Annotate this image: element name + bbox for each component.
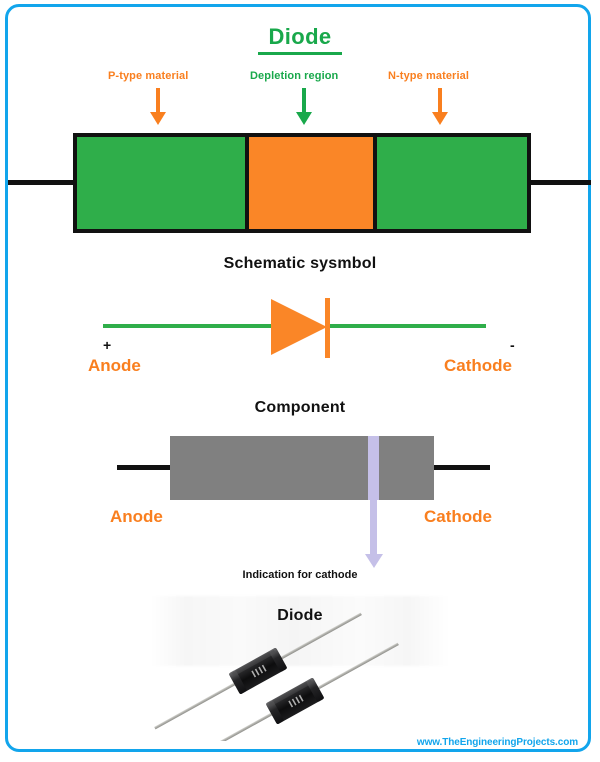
- component-cathode-label: Cathode: [424, 507, 492, 527]
- pn-junction-lead-right: [529, 180, 591, 185]
- page-title: Diode: [0, 24, 600, 50]
- pn-segment-n-region: [377, 137, 527, 229]
- polarity-minus-sign: -: [510, 337, 515, 353]
- arrow-head: [296, 112, 312, 125]
- heading-component: Component: [0, 399, 600, 417]
- cathode-indicator-arrow-shaft: [370, 500, 377, 558]
- pn-junction-lead-left: [8, 180, 74, 185]
- arrow-head: [150, 112, 166, 125]
- diode-triangle-icon: [271, 299, 327, 355]
- diode-photo-svg: [150, 596, 450, 741]
- caption-indication-for-cathode: Indication for cathode: [0, 569, 600, 581]
- heading-schematic-symbol: Schematic sysmbol: [0, 255, 600, 273]
- label-n-type-material: N-type material: [388, 70, 469, 82]
- schematic-cathode-label: Cathode: [444, 356, 512, 376]
- schematic-anode-label: Anode: [88, 356, 141, 376]
- schematic-wire-right: [326, 324, 486, 328]
- label-p-type-material: P-type material: [108, 70, 188, 82]
- arrow-head: [432, 112, 448, 125]
- pn-segment-p-region: [77, 137, 245, 229]
- arrow-down-icon-p-type: [148, 88, 168, 128]
- arrow-shaft: [302, 88, 306, 114]
- component-cathode-band: [368, 436, 379, 500]
- component-anode-label: Anode: [110, 507, 163, 527]
- arrow-down-icon-n-type: [430, 88, 450, 128]
- arrow-down-icon-depletion: [294, 88, 314, 128]
- schematic-wire-left: [103, 324, 278, 328]
- component-lead-right: [433, 465, 490, 470]
- diode-infographic: Diode P-type material Depletion region N…: [0, 0, 600, 762]
- diode-cathode-bar-icon: [325, 298, 330, 358]
- page-title-underline: [258, 52, 342, 55]
- diode-photo-item-1: [150, 603, 367, 738]
- pn-segment-depletion-region: [245, 137, 377, 229]
- arrow-shaft: [438, 88, 442, 114]
- polarity-plus-sign: +: [103, 337, 111, 353]
- site-url-watermark[interactable]: www.TheEngineeringProjects.com: [417, 737, 578, 748]
- arrow-shaft: [156, 88, 160, 114]
- label-depletion-region: Depletion region: [250, 70, 338, 82]
- diode-photo: [150, 596, 450, 741]
- pn-junction-block: [73, 133, 531, 233]
- component-lead-left: [117, 465, 171, 470]
- component-body: [170, 436, 434, 500]
- cathode-indicator-arrow-head: [365, 554, 383, 568]
